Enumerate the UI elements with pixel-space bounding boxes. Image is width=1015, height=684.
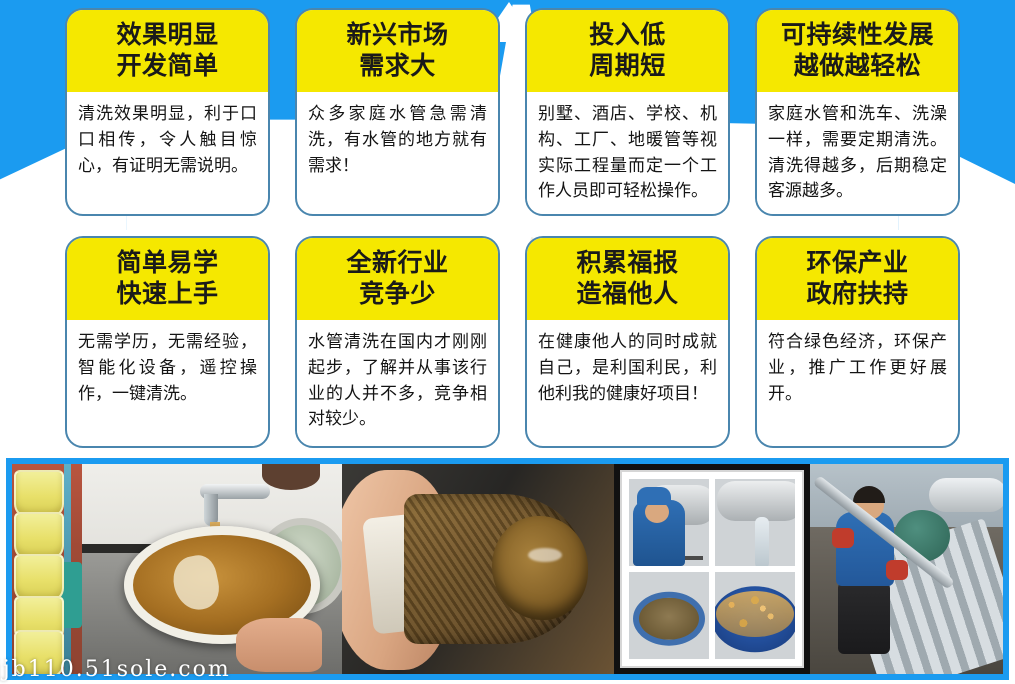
card-header: 效果明显 开发简单 [67,10,268,92]
card-description: 符合绿色经济，环保产业，推广工作更好展开。 [768,330,947,407]
card-header: 简单易学 快速上手 [67,238,268,320]
card-title-line1: 简单易学 [73,248,262,279]
card-body: 家庭水管和洗车、洗澡一样，需要定期清洗。清洗得越多，后期稳定客源越多。 [757,92,958,216]
photo-corroded-pipe [342,464,614,674]
card-header: 新兴市场 需求大 [297,10,498,92]
benefit-card: 投入低 周期短 别墅、酒店、学校、机构、工厂、地暖管等视实际工程量而定一个工作人… [525,8,730,216]
card-title-line1: 效果明显 [73,20,262,51]
benefit-card-grid: 效果明显 开发简单 清洗效果明显，利于口口相传，令人触目惊心，有证明无需说明。 … [0,0,1015,455]
photo-detail-water-gush [755,517,769,566]
card-header: 环保产业 政府扶持 [757,238,958,320]
photo-detail-worker-legs [838,582,890,654]
photo-yellow-sample-cups [12,464,82,674]
card-description: 无需学历，无需经验，智能化设备，遥控操作，一键清洗。 [78,330,257,407]
card-title-line2: 竞争少 [303,279,492,310]
benefit-card: 积累福报 造福他人 在健康他人的同时成就自己，是利国利民，利他利我的健康好项目！ [525,236,730,448]
collage-cell-sediment-in-basin [715,572,795,659]
card-header: 全新行业 竞争少 [297,238,498,320]
photo-heater-cleaning-collage [614,464,810,674]
benefit-card: 效果明显 开发简单 清洗效果明显，利于口口相传，令人触目惊心，有证明无需说明。 [65,8,270,216]
photo-detail-sludge [492,516,588,620]
card-header: 可持续性发展 越做越轻松 [757,10,958,92]
photo-detail-heater-tank [717,481,795,521]
card-title-line2: 造福他人 [533,279,722,310]
photo-strip [6,458,1009,680]
photo-detail-sediment [716,591,794,637]
card-title-line1: 环保产业 [763,248,952,279]
card-header: 投入低 周期短 [527,10,728,92]
card-body: 别墅、酒店、学校、机构、工厂、地暖管等视实际工程量而定一个工作人员即可轻松操作。 [527,92,728,216]
photo-detail-worker-cap [637,487,671,505]
photo-detail-cup [14,554,64,602]
card-body: 符合绿色经济，环保产业，推广工作更好展开。 [757,320,958,419]
photo-roof-solar-heater-cleaning [810,464,1003,674]
card-description: 众多家庭水管急需清洗，有水管的地方就有需求！ [308,102,487,179]
card-header: 积累福报 造福他人 [527,238,728,320]
collage-cell-worker-at-heater [629,479,709,566]
card-body: 无需学历，无需经验，智能化设备，遥控操作，一键清洗。 [67,320,268,419]
photo-detail-cup [14,512,64,560]
benefit-card: 简单易学 快速上手 无需学历，无需经验，智能化设备，遥控操作，一键清洗。 [65,236,270,448]
card-body: 水管清洗在国内才刚刚起步，了解并从事该行业的人并不多，竞争相对较少。 [297,320,498,445]
card-title-line1: 全新行业 [303,248,492,279]
card-title-line2: 需求大 [303,51,492,82]
benefit-card: 新兴市场 需求大 众多家庭水管急需清洗，有水管的地方就有需求！ [295,8,500,216]
site-watermark: jjb110.51sole.com [0,657,231,682]
photo-detail-hand [236,618,322,672]
card-description: 在健康他人的同时成就自己，是利国利民，利他利我的健康好项目！ [538,330,717,407]
benefit-card: 环保产业 政府扶持 符合绿色经济，环保产业，推广工作更好展开。 [755,236,960,448]
photo-collage-frame [620,470,804,668]
photo-detail-heater-tank [929,478,1003,512]
photo-dirty-water-bowl [82,464,342,674]
card-description: 别墅、酒店、学校、机构、工厂、地暖管等视实际工程量而定一个工作人员即可轻松操作。 [538,102,717,205]
photo-detail-glove [886,560,908,580]
card-description: 清洗效果明显，利于口口相传，令人触目惊心，有证明无需说明。 [78,102,257,179]
card-description: 水管清洗在国内才刚刚起步，了解并从事该行业的人并不多，竞争相对较少。 [308,330,487,433]
card-title-line2: 快速上手 [73,279,262,310]
photo-detail-highlight [528,548,562,562]
promo-poster: 国内领先 专业清洗 水管清洗 智能设备 绿色环保 健康家园 效果明显 开发简单 … [0,0,1015,684]
card-body: 在健康他人的同时成就自己，是利国利民，利他利我的健康好项目！ [527,320,728,419]
benefit-card: 全新行业 竞争少 水管清洗在国内才刚刚起步，了解并从事该行业的人并不多，竞争相对… [295,236,500,448]
collage-cell-basin-on-tiles [629,572,709,659]
photo-detail-glove [832,528,854,548]
collage-cell-water-discharge [715,479,795,566]
photo-detail-basin [633,591,705,645]
card-title-line1: 投入低 [533,20,722,51]
benefit-card: 可持续性发展 越做越轻松 家庭水管和洗车、洗澡一样，需要定期清洗。清洗得越多，后… [755,8,960,216]
card-title-line1: 新兴市场 [303,20,492,51]
photo-detail-cup [14,470,64,518]
card-body: 清洗效果明显，利于口口相传，令人触目惊心，有证明无需说明。 [67,92,268,191]
card-title-line2: 政府扶持 [763,279,952,310]
card-title-line2: 开发简单 [73,51,262,82]
card-description: 家庭水管和洗车、洗澡一样，需要定期清洗。清洗得越多，后期稳定客源越多。 [768,102,947,205]
card-title-line1: 可持续性发展 [763,20,952,51]
card-title-line2: 越做越轻松 [763,51,952,82]
card-body: 众多家庭水管急需清洗，有水管的地方就有需求！ [297,92,498,191]
card-title-line1: 积累福报 [533,248,722,279]
card-title-line2: 周期短 [533,51,722,82]
